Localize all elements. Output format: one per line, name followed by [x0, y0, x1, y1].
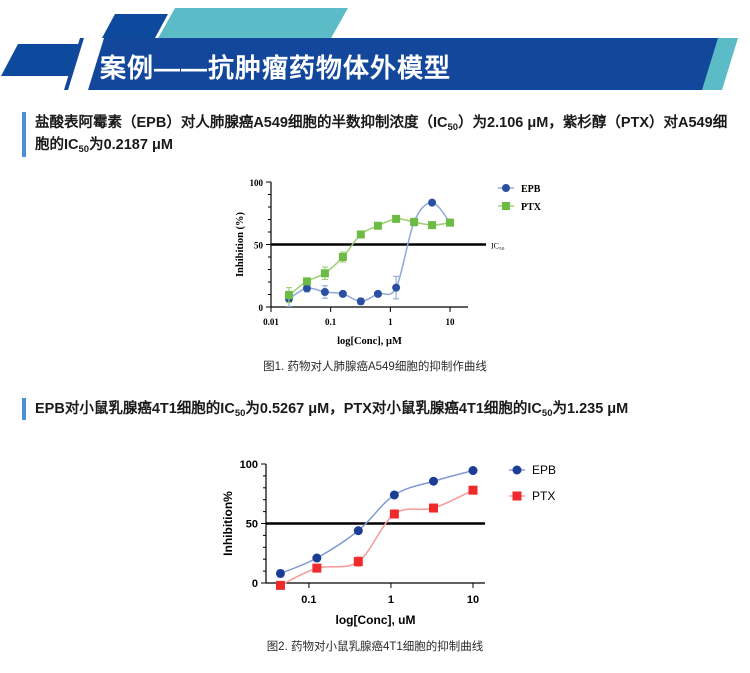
data-point — [392, 284, 400, 292]
data-point — [312, 554, 321, 563]
fit-curve — [280, 471, 473, 574]
paragraph-block-2: EPB对小鼠乳腺癌4T1细胞的IC50为0.5267 μM，PTX对小鼠乳腺癌4… — [22, 398, 728, 420]
legend-label: PTX — [521, 202, 542, 213]
data-point — [392, 215, 400, 223]
y-axis-label: Inhibition% — [221, 491, 235, 556]
y-tick-label: 0 — [252, 578, 258, 590]
data-point — [354, 557, 363, 566]
legend-label: EPB — [521, 184, 541, 195]
figure-1-caption: 图1. 药物对人肺腺癌A549细胞的抑制作曲线 — [0, 358, 750, 374]
header-shape-teal — [157, 8, 348, 40]
figure-2: 0501000.1110log[Conc], uMInhibition%EPBP… — [210, 452, 605, 627]
legend-marker — [513, 492, 522, 501]
data-point — [303, 284, 311, 292]
data-point — [285, 291, 293, 299]
slide-header: 案例——抗肿瘤药物体外模型 — [0, 0, 750, 100]
legend-marker — [502, 184, 510, 192]
data-point — [312, 564, 321, 573]
data-point — [390, 509, 399, 518]
data-point — [374, 222, 382, 230]
fit-curve — [289, 219, 450, 295]
data-point — [339, 253, 347, 261]
data-point — [321, 269, 329, 277]
data-point — [374, 290, 382, 298]
legend-label: PTX — [532, 489, 555, 503]
data-point — [357, 297, 365, 305]
fit-curve — [280, 490, 473, 585]
data-point — [428, 221, 436, 229]
data-point — [354, 526, 363, 535]
y-axis-label: Inhibition (%) — [235, 211, 246, 277]
x-tick-label: 1 — [388, 317, 393, 327]
paragraph-1-text: 盐酸表阿霉素（EPB）对人肺腺癌A549细胞的半数抑制浓度（IC50）为2.10… — [35, 112, 728, 157]
data-point — [446, 219, 454, 227]
y-tick-label: 100 — [240, 459, 258, 471]
data-point — [410, 218, 418, 226]
legend-label: EPB — [532, 463, 556, 477]
data-point — [321, 288, 329, 296]
fit-curve — [289, 203, 450, 302]
data-point — [276, 581, 285, 590]
header-shape-small-blue — [102, 14, 168, 38]
data-point — [428, 199, 436, 207]
data-point — [357, 231, 365, 239]
x-axis-label: log[Conc], uM — [336, 613, 416, 627]
figure-1: 0501000.010.1110IC₅₀log[Conc], μMInhibit… — [225, 172, 580, 347]
y-tick-label: 0 — [259, 303, 264, 313]
paragraph-block-1: 盐酸表阿霉素（EPB）对人肺腺癌A549细胞的半数抑制浓度（IC50）为2.10… — [22, 112, 728, 157]
legend-marker — [513, 466, 522, 475]
y-tick-label: 50 — [246, 519, 258, 531]
data-point — [303, 277, 311, 285]
fig1-plot: 0501000.010.1110IC₅₀log[Conc], μMInhibit… — [225, 172, 580, 347]
paragraph-2-text: EPB对小鼠乳腺癌4T1细胞的IC50为0.5267 μM，PTX对小鼠乳腺癌4… — [35, 398, 628, 420]
x-tick-label: 10 — [467, 594, 479, 606]
data-point — [390, 490, 399, 499]
paragraph-accent-bar — [22, 112, 26, 157]
x-tick-label: 10 — [446, 317, 456, 327]
x-axis-label: log[Conc], μM — [337, 336, 402, 347]
x-tick-label: 0.01 — [263, 317, 279, 327]
figure-2-caption: 图2. 药物对小鼠乳腺癌4T1细胞的抑制曲线 — [0, 638, 750, 654]
data-point — [429, 477, 438, 486]
series-EPB — [276, 466, 478, 578]
x-tick-label: 1 — [388, 594, 394, 606]
data-point — [469, 466, 478, 475]
ic50-annotation-label: IC₅₀ — [491, 242, 505, 251]
x-tick-label: 0.1 — [301, 594, 316, 606]
series-EPB — [285, 199, 454, 307]
data-point — [339, 290, 347, 298]
page-title: 案例——抗肿瘤药物体外模型 — [100, 48, 451, 85]
data-point — [276, 569, 285, 578]
fig2-plot: 0501000.1110log[Conc], uMInhibition%EPBP… — [210, 452, 605, 627]
data-point — [429, 504, 438, 513]
data-point — [469, 486, 478, 495]
x-tick-label: 0.1 — [325, 317, 337, 327]
y-tick-label: 50 — [254, 241, 264, 251]
paragraph-accent-bar — [22, 398, 26, 420]
y-tick-label: 100 — [250, 178, 264, 188]
series-PTX — [276, 486, 478, 590]
legend-marker — [502, 202, 510, 210]
